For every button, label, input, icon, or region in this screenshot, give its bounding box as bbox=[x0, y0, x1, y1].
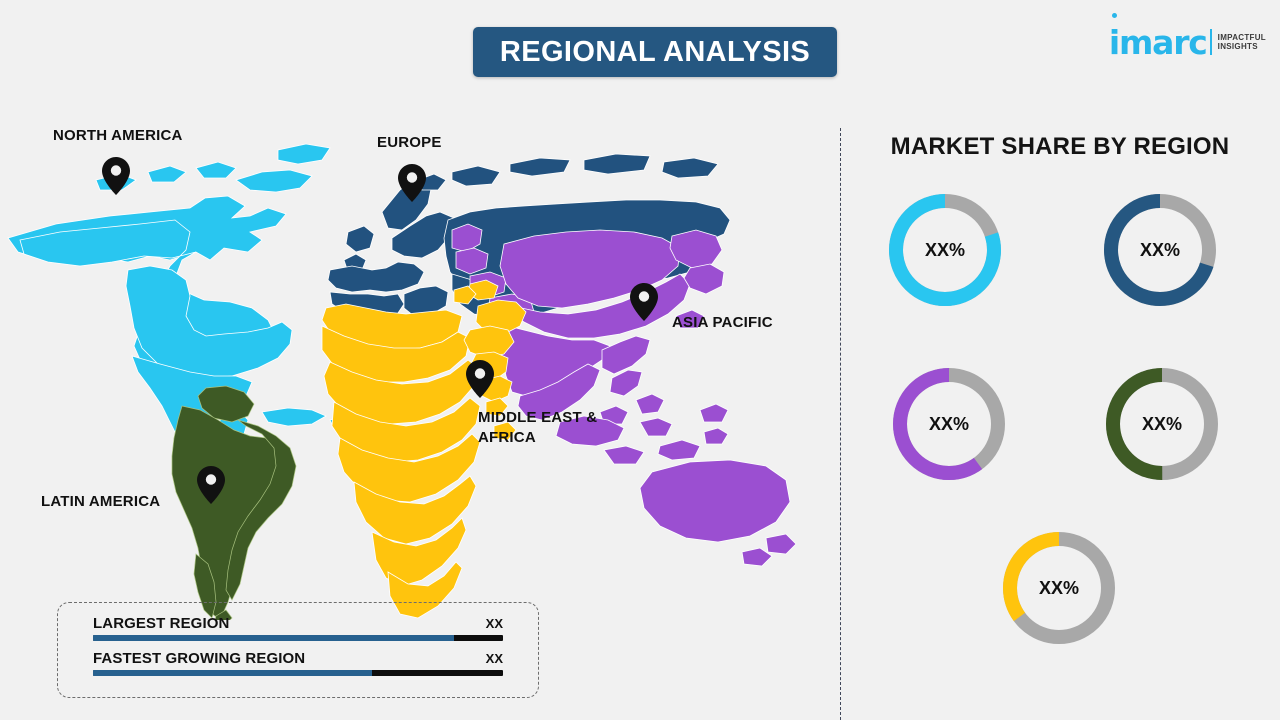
legend-bar-fill-largest-region bbox=[93, 635, 454, 641]
map-label-asia-pacific: ASIA PACIFIC bbox=[672, 313, 773, 333]
legend-value-largest-region: XX bbox=[486, 616, 503, 631]
map-pin-north-america[interactable] bbox=[102, 157, 130, 195]
donut-chart-europe: XX% bbox=[1102, 192, 1218, 308]
legend-label-largest-region: LARGEST REGION bbox=[93, 615, 229, 632]
map-pin-europe[interactable] bbox=[398, 164, 426, 202]
donut-value-north-america: XX% bbox=[887, 192, 1003, 308]
infographic-canvas: REGIONAL ANALYSIS imarc IMPACTFUL INSIGH… bbox=[0, 0, 1280, 720]
donut-chart-latin-america: XX% bbox=[1104, 366, 1220, 482]
map-pin-middle-east-africa[interactable] bbox=[466, 360, 494, 398]
logo-divider bbox=[1210, 29, 1212, 55]
chart-panel-title: MARKET SHARE BY REGION bbox=[840, 133, 1280, 161]
legend-value-fastest-growing-region: XX bbox=[486, 651, 503, 666]
map-region-middle-east-africa bbox=[322, 280, 526, 618]
donut-value-middle-east-africa: XX% bbox=[1001, 530, 1117, 646]
map-label-north-america: NORTH AMERICA bbox=[53, 126, 183, 146]
legend-label-fastest-growing-region: FASTEST GROWING REGION bbox=[93, 650, 305, 667]
donut-value-europe: XX% bbox=[1102, 192, 1218, 308]
logo-dot-icon bbox=[1112, 13, 1117, 18]
legend-bar-track-largest-region bbox=[93, 635, 503, 641]
map-pin-latin-america[interactable] bbox=[197, 466, 225, 504]
region-summary-box: LARGEST REGION XX FASTEST GROWING REGION… bbox=[57, 602, 539, 698]
donut-value-asia-pacific: XX% bbox=[891, 366, 1007, 482]
legend-row-fastest-growing-region: FASTEST GROWING REGION XX bbox=[93, 650, 503, 676]
map-pin-asia-pacific[interactable] bbox=[630, 283, 658, 321]
logo-tagline-line2: INSIGHTS bbox=[1218, 42, 1266, 51]
logo-tagline-line1: IMPACTFUL bbox=[1218, 33, 1266, 42]
logo-wordmark: imarc bbox=[1109, 26, 1207, 59]
imarc-logo: imarc IMPACTFUL INSIGHTS bbox=[1109, 22, 1266, 62]
legend-head: LARGEST REGION XX bbox=[93, 615, 503, 632]
legend-bar-track-fastest-growing-region bbox=[93, 670, 503, 676]
donut-chart-middle-east-africa: XX% bbox=[1001, 530, 1117, 646]
donut-chart-asia-pacific: XX% bbox=[891, 366, 1007, 482]
legend-head: FASTEST GROWING REGION XX bbox=[93, 650, 503, 667]
legend-bar-fill-fastest-growing-region bbox=[93, 670, 372, 676]
logo-tagline: IMPACTFUL INSIGHTS bbox=[1218, 33, 1266, 51]
panel-divider bbox=[840, 128, 841, 720]
legend-row-largest-region: LARGEST REGION XX bbox=[93, 615, 503, 641]
donut-chart-north-america: XX% bbox=[887, 192, 1003, 308]
map-label-latin-america: LATIN AMERICA bbox=[41, 492, 160, 512]
map-label-middle-east-africa: MIDDLE EAST & AFRICA bbox=[478, 408, 638, 449]
page-title-badge: REGIONAL ANALYSIS bbox=[473, 27, 837, 77]
donut-value-latin-america: XX% bbox=[1104, 366, 1220, 482]
world-map bbox=[0, 120, 820, 620]
page-title: REGIONAL ANALYSIS bbox=[500, 36, 810, 69]
map-label-europe: EUROPE bbox=[377, 133, 442, 153]
